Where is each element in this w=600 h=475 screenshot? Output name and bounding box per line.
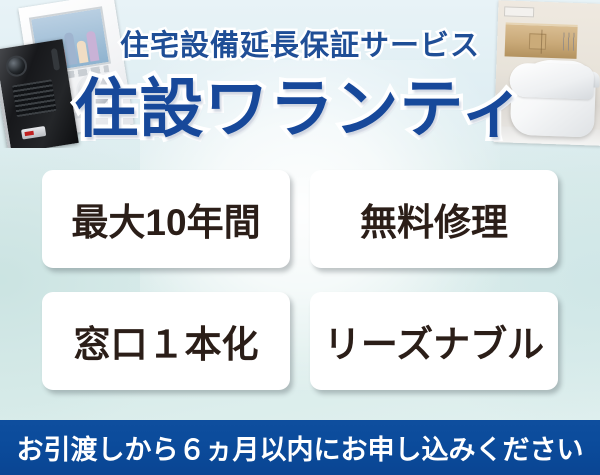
- feature-label: リーズナブル: [324, 314, 544, 368]
- application-deadline-banner[interactable]: お引渡しから６ヵ月以内にお申し込みください: [0, 420, 600, 475]
- feature-label: 最大10年間: [71, 192, 260, 246]
- feature-box-max-years[interactable]: 最大10年間: [42, 170, 290, 268]
- page-title: 住設ワランティ: [0, 58, 600, 150]
- promo-banner-image: 住宅設備延長保証サービス 住設ワランティ 最大10年間 無料修理 窓口１本化 リ…: [0, 0, 600, 475]
- feature-label: 窓口１本化: [74, 314, 259, 368]
- feature-grid: 最大10年間 無料修理 窓口１本化 リーズナブル: [42, 170, 558, 390]
- feature-box-reasonable[interactable]: リーズナブル: [310, 292, 558, 390]
- feature-box-single-contact[interactable]: 窓口１本化: [42, 292, 290, 390]
- wall-vent: [504, 6, 534, 17]
- feature-label: 無料修理: [360, 192, 508, 246]
- application-deadline-text: お引渡しから６ヵ月以内にお申し込みください: [17, 428, 584, 467]
- feature-box-free-repair[interactable]: 無料修理: [310, 170, 558, 268]
